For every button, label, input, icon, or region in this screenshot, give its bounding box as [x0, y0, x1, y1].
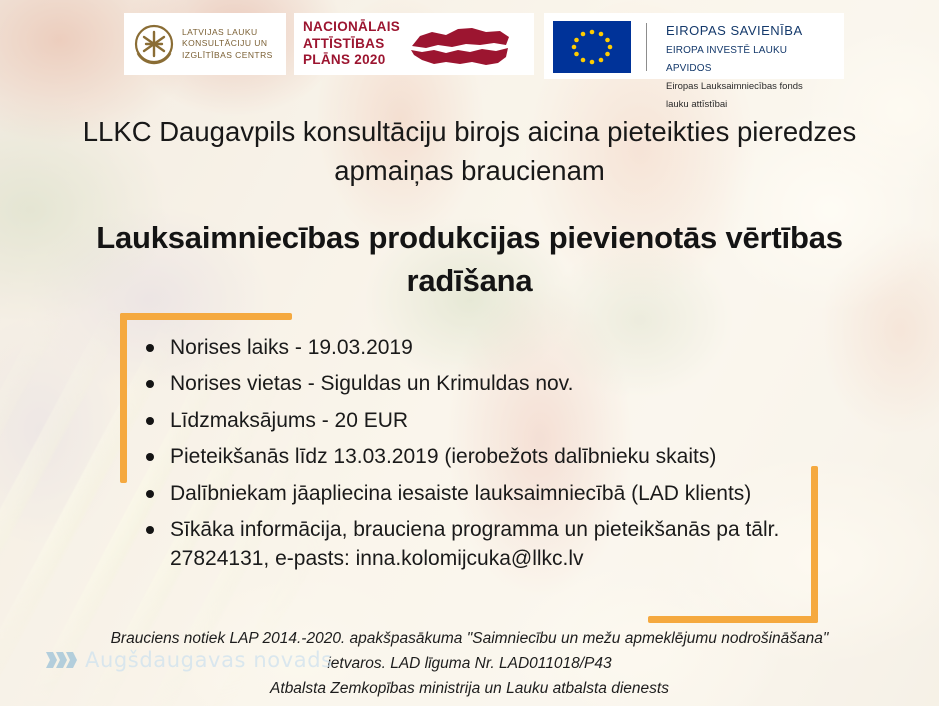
eu-subtitle-2: Eiropas Lauksaimniecības fonds lauku att…: [666, 81, 803, 110]
eu-logo-divider: [646, 23, 647, 71]
eu-subtitle-1: EIROPA INVESTĒ LAUKU APVIDOS: [666, 45, 787, 74]
poster-main-title: Lauksaimniecības produkcijas pievienotās…: [55, 216, 885, 303]
logo-nap-2020: NACIONĀLAIS ATTĪSTĪBAS PLĀNS 2020: [294, 13, 534, 75]
footer-line: ietvaros. LAD līguma Nr. LAD011018/P43: [20, 651, 920, 676]
list-item: Norises vietas - Siguldas un Krimuldas n…: [140, 369, 830, 398]
eu-logo-text-block: EIROPAS SAVIENĪBA EIROPA INVESTĒ LAUKU A…: [666, 21, 835, 112]
list-item: Dalībniekam jāapliecina iesaiste lauksai…: [140, 479, 830, 508]
list-item: Sīkāka informācija, brauciena programma …: [140, 515, 830, 574]
list-item: Norises laiks - 19.03.2019: [140, 333, 830, 362]
logo-strip: LATVIJAS LAUKU KONSULTĀCIJU UN IZGLĪTĪBA…: [124, 13, 844, 79]
poster-canvas: LATVIJAS LAUKU KONSULTĀCIJU UN IZGLĪTĪBA…: [0, 0, 939, 706]
list-item: Pieteikšanās līdz 13.03.2019 (ierobežots…: [140, 442, 830, 471]
eu-title: EIROPAS SAVIENĪBA: [666, 23, 803, 38]
llkc-logo-text: LATVIJAS LAUKU KONSULTĀCIJU UN IZGLĪTĪBA…: [182, 27, 277, 60]
list-item: Līdzmaksājums - 20 EUR: [140, 406, 830, 435]
llkc-emblem-icon: [133, 23, 175, 65]
nap-logo-text: NACIONĀLAIS ATTĪSTĪBAS PLĀNS 2020: [303, 19, 400, 68]
footer-line: Atbalsta Zemkopības ministrija un Lauku …: [20, 676, 920, 701]
poster-footer-funding-note: Brauciens notiek LAP 2014.-2020. apakšpa…: [20, 626, 920, 701]
footer-line: Brauciens notiek LAP 2014.-2020. apakšpa…: [20, 626, 920, 651]
logo-llkc: LATVIJAS LAUKU KONSULTĀCIJU UN IZGLĪTĪBA…: [124, 13, 286, 75]
details-bullet-list: Norises laiks - 19.03.2019 Norises vieta…: [140, 333, 830, 581]
poster-subtitle: LLKC Daugavpils konsultāciju birojs aici…: [55, 112, 885, 190]
logo-european-union: EIROPAS SAVIENĪBA EIROPA INVESTĒ LAUKU A…: [544, 13, 844, 79]
eu-flag-icon: [553, 21, 631, 73]
latvia-map-icon: [406, 19, 514, 69]
